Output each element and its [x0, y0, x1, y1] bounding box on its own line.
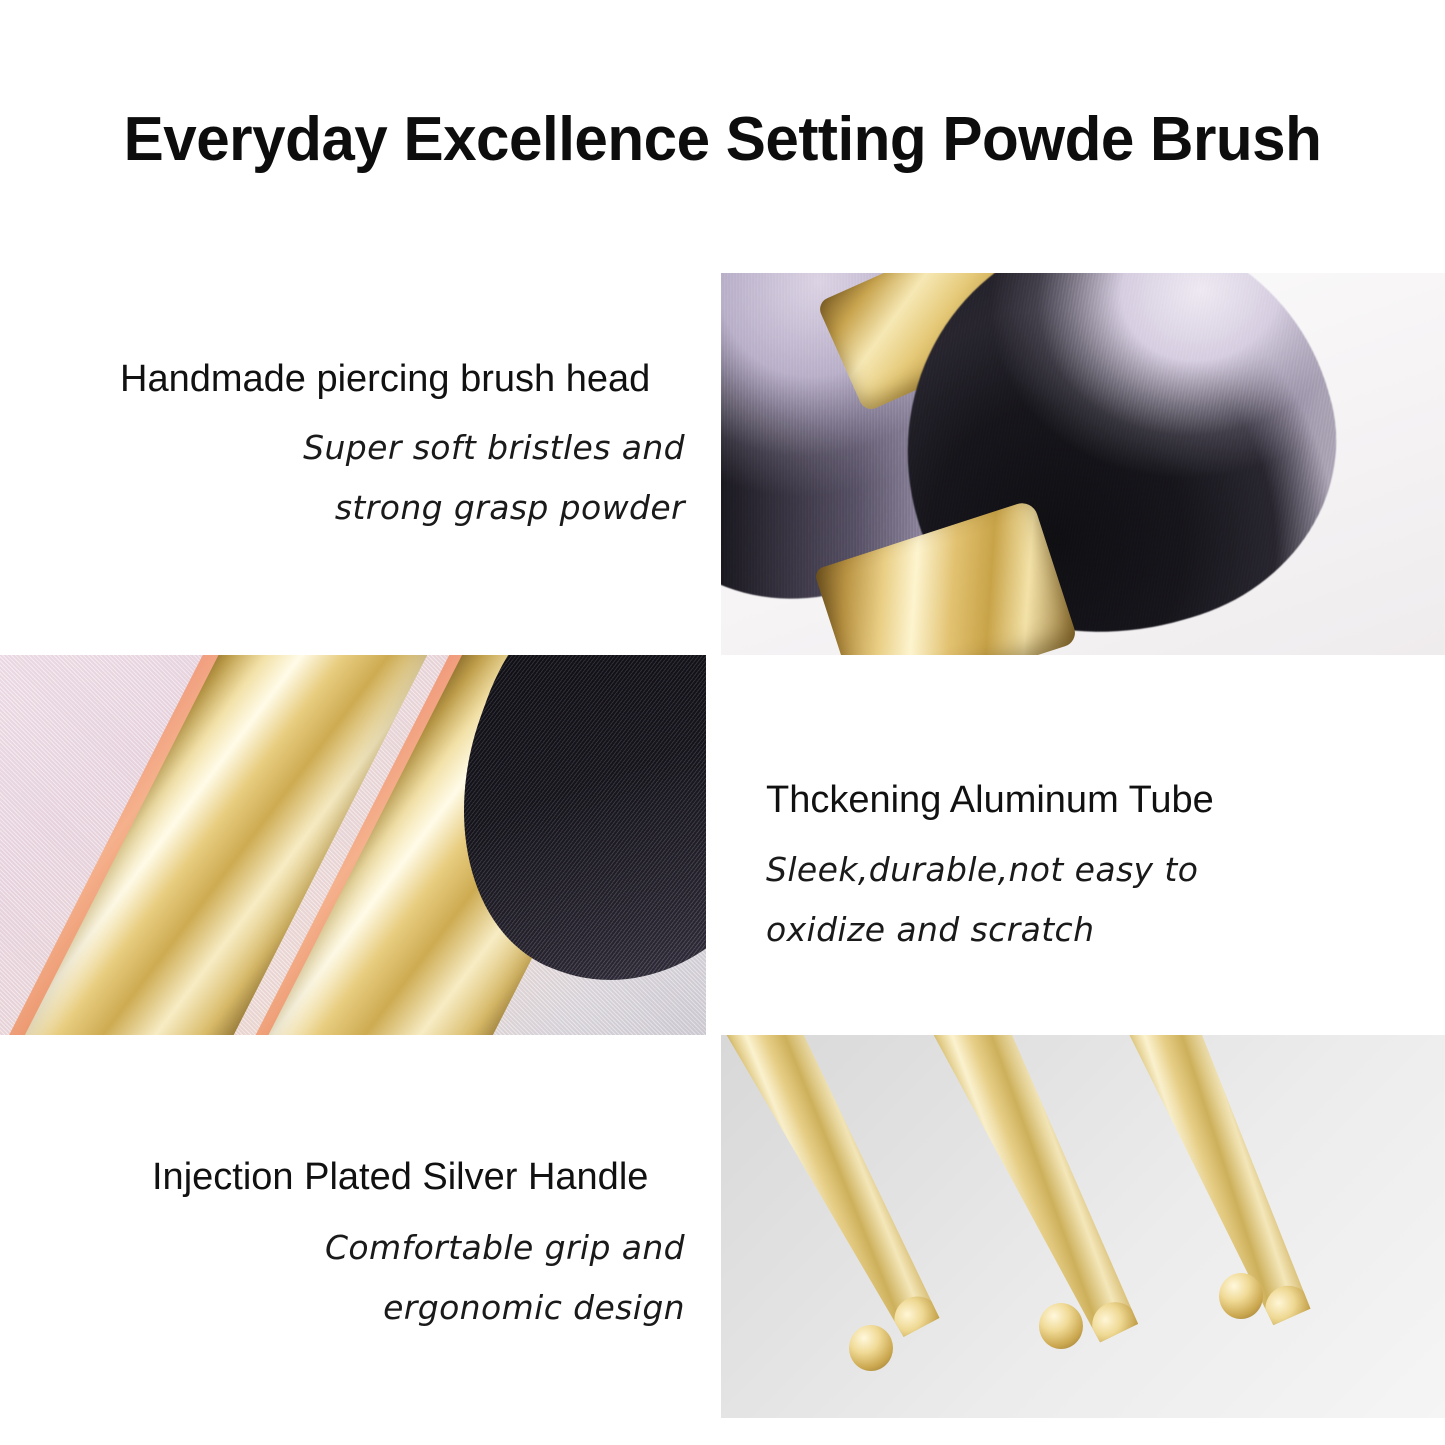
feature-1-description: Super soft bristles and strong grasp pow… [120, 418, 685, 538]
brush-head-photo [721, 273, 1445, 655]
feature-1-description-line-2: strong grasp powder [120, 478, 685, 538]
feature-3-description-line-1: Comfortable grip and [120, 1218, 685, 1278]
feature-3-heading: Injection Plated Silver Handle [152, 1156, 648, 1199]
handle-photo [721, 1035, 1445, 1418]
feature-2-description: Sleek,durable,not easy to oxidize and sc… [766, 840, 1366, 960]
feature-3-description-line-2: ergonomic design [120, 1278, 685, 1338]
feature-1-description-line-1: Super soft bristles and [120, 418, 685, 478]
aluminum-tube-photo [0, 655, 706, 1035]
brush-handle-3-tip [1219, 1273, 1263, 1319]
feature-2-description-line-1: Sleek,durable,not easy to [766, 840, 1366, 900]
feature-2-heading: Thckening Aluminum Tube [766, 779, 1214, 822]
brush-handle-1-tip [849, 1325, 893, 1371]
brush-handle-1 [721, 1035, 962, 1349]
product-infographic: Everyday Excellence Setting Powde Brush … [0, 0, 1445, 1445]
feature-3-description: Comfortable grip and ergonomic design [120, 1218, 685, 1338]
feature-1-heading: Handmade piercing brush head [120, 358, 650, 401]
feature-2-description-line-2: oxidize and scratch [766, 900, 1366, 960]
page-title: Everyday Excellence Setting Powde Brush [22, 104, 1424, 175]
brush-handle-2-tip [1039, 1303, 1083, 1349]
